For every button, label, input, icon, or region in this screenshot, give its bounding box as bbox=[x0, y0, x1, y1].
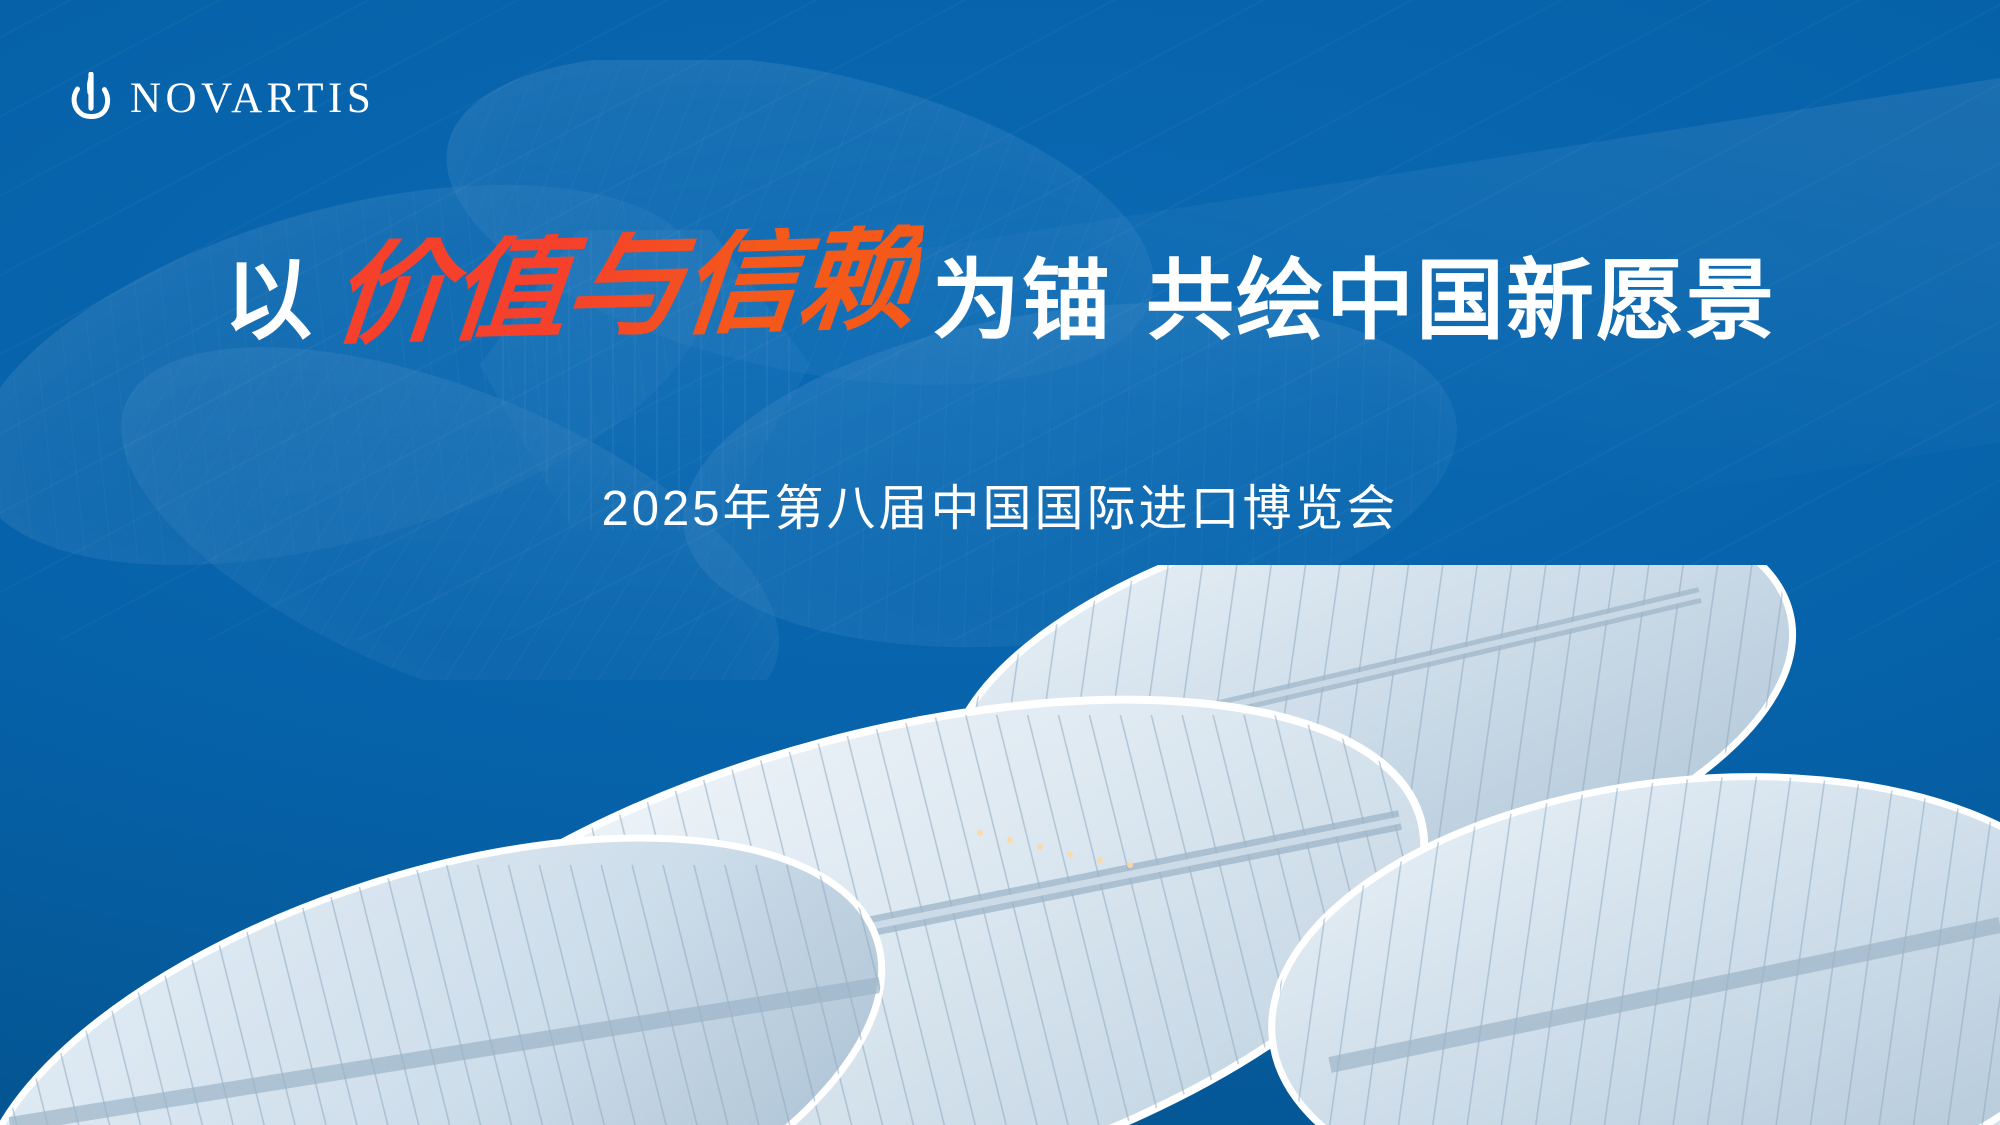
novartis-flame-icon bbox=[68, 72, 114, 124]
headline-prefix: 以 bbox=[224, 257, 314, 345]
background-watermark-necc bbox=[0, 60, 1620, 680]
headline: 以 价值与信赖 为锚 共绘中国新愿景 bbox=[0, 232, 2000, 345]
event-subtitle: 2025年第八届中国国际进口博览会 bbox=[0, 485, 2000, 534]
headline-suffix: 共绘中国新愿景 bbox=[1146, 257, 1776, 345]
novartis-logo: NOVARTIS bbox=[68, 72, 375, 124]
headline-middle: 为锚 bbox=[932, 257, 1112, 345]
headline-calligraphy: 价值与信赖 bbox=[324, 224, 924, 349]
novartis-wordmark: NOVARTIS bbox=[130, 77, 375, 120]
banner-canvas: NOVARTIS 以 价值与信赖 为锚 共绘中国新愿景 2025年第八届中国国际… bbox=[0, 0, 2000, 1125]
